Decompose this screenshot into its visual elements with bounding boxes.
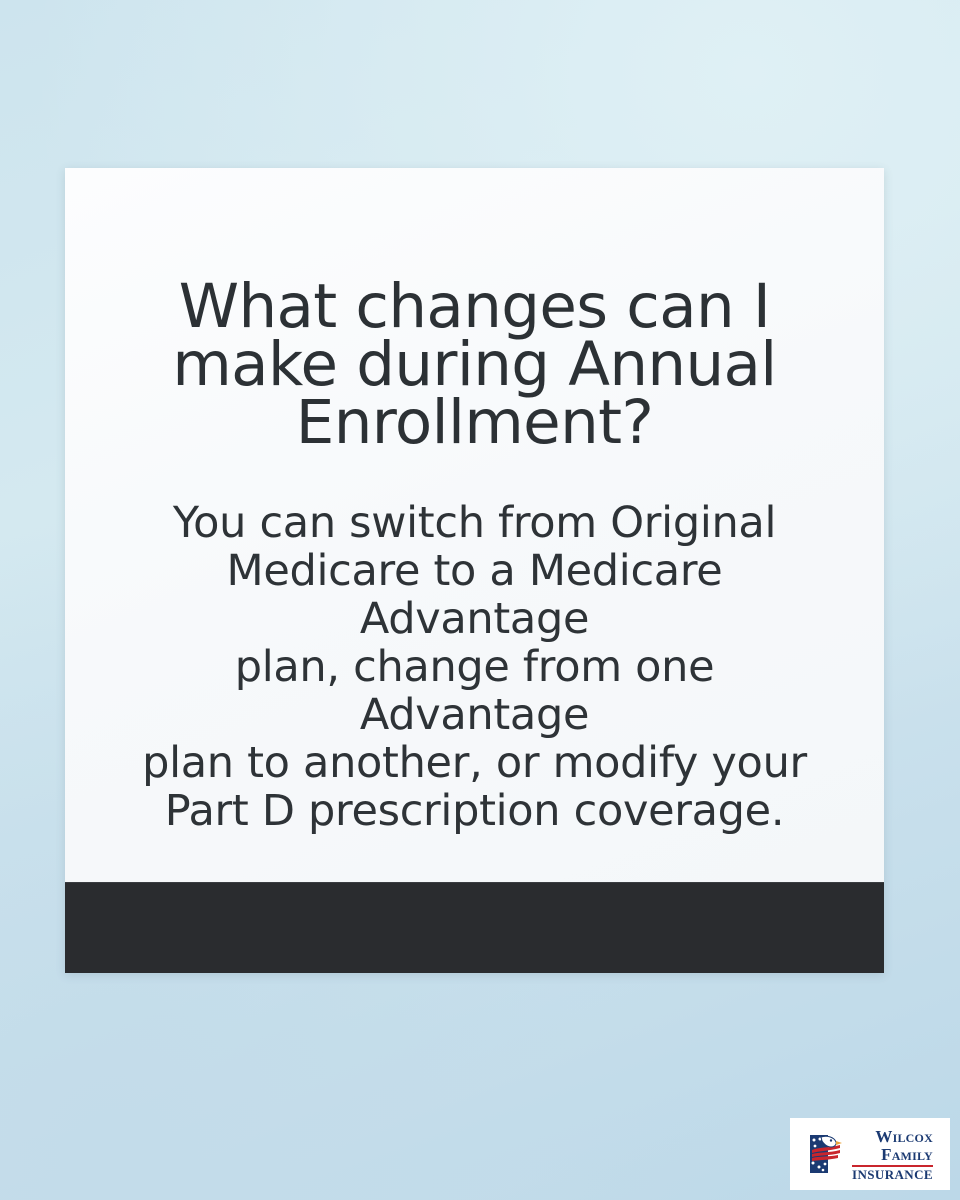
logo-line-family: Family bbox=[881, 1146, 933, 1163]
brand-logo: Wilcox Family INSURANCE bbox=[790, 1118, 950, 1190]
logo-wordmark: Wilcox Family INSURANCE bbox=[852, 1128, 933, 1181]
card-text-block: What changes can I make during Annual En… bbox=[115, 278, 834, 835]
logo-line-wilcox: Wilcox bbox=[875, 1128, 933, 1145]
card-footer-bar bbox=[65, 882, 884, 973]
page-title: What changes can I make during Annual En… bbox=[115, 278, 834, 452]
slide-canvas: What changes can I make during Annual En… bbox=[0, 0, 960, 1200]
card-body-text: You can switch from Original Medicare to… bbox=[115, 452, 834, 835]
content-card: What changes can I make during Annual En… bbox=[65, 168, 884, 973]
card-body: What changes can I make during Annual En… bbox=[65, 168, 884, 882]
eagle-flag-emblem bbox=[807, 1132, 847, 1176]
logo-line-insurance: INSURANCE bbox=[852, 1168, 933, 1181]
